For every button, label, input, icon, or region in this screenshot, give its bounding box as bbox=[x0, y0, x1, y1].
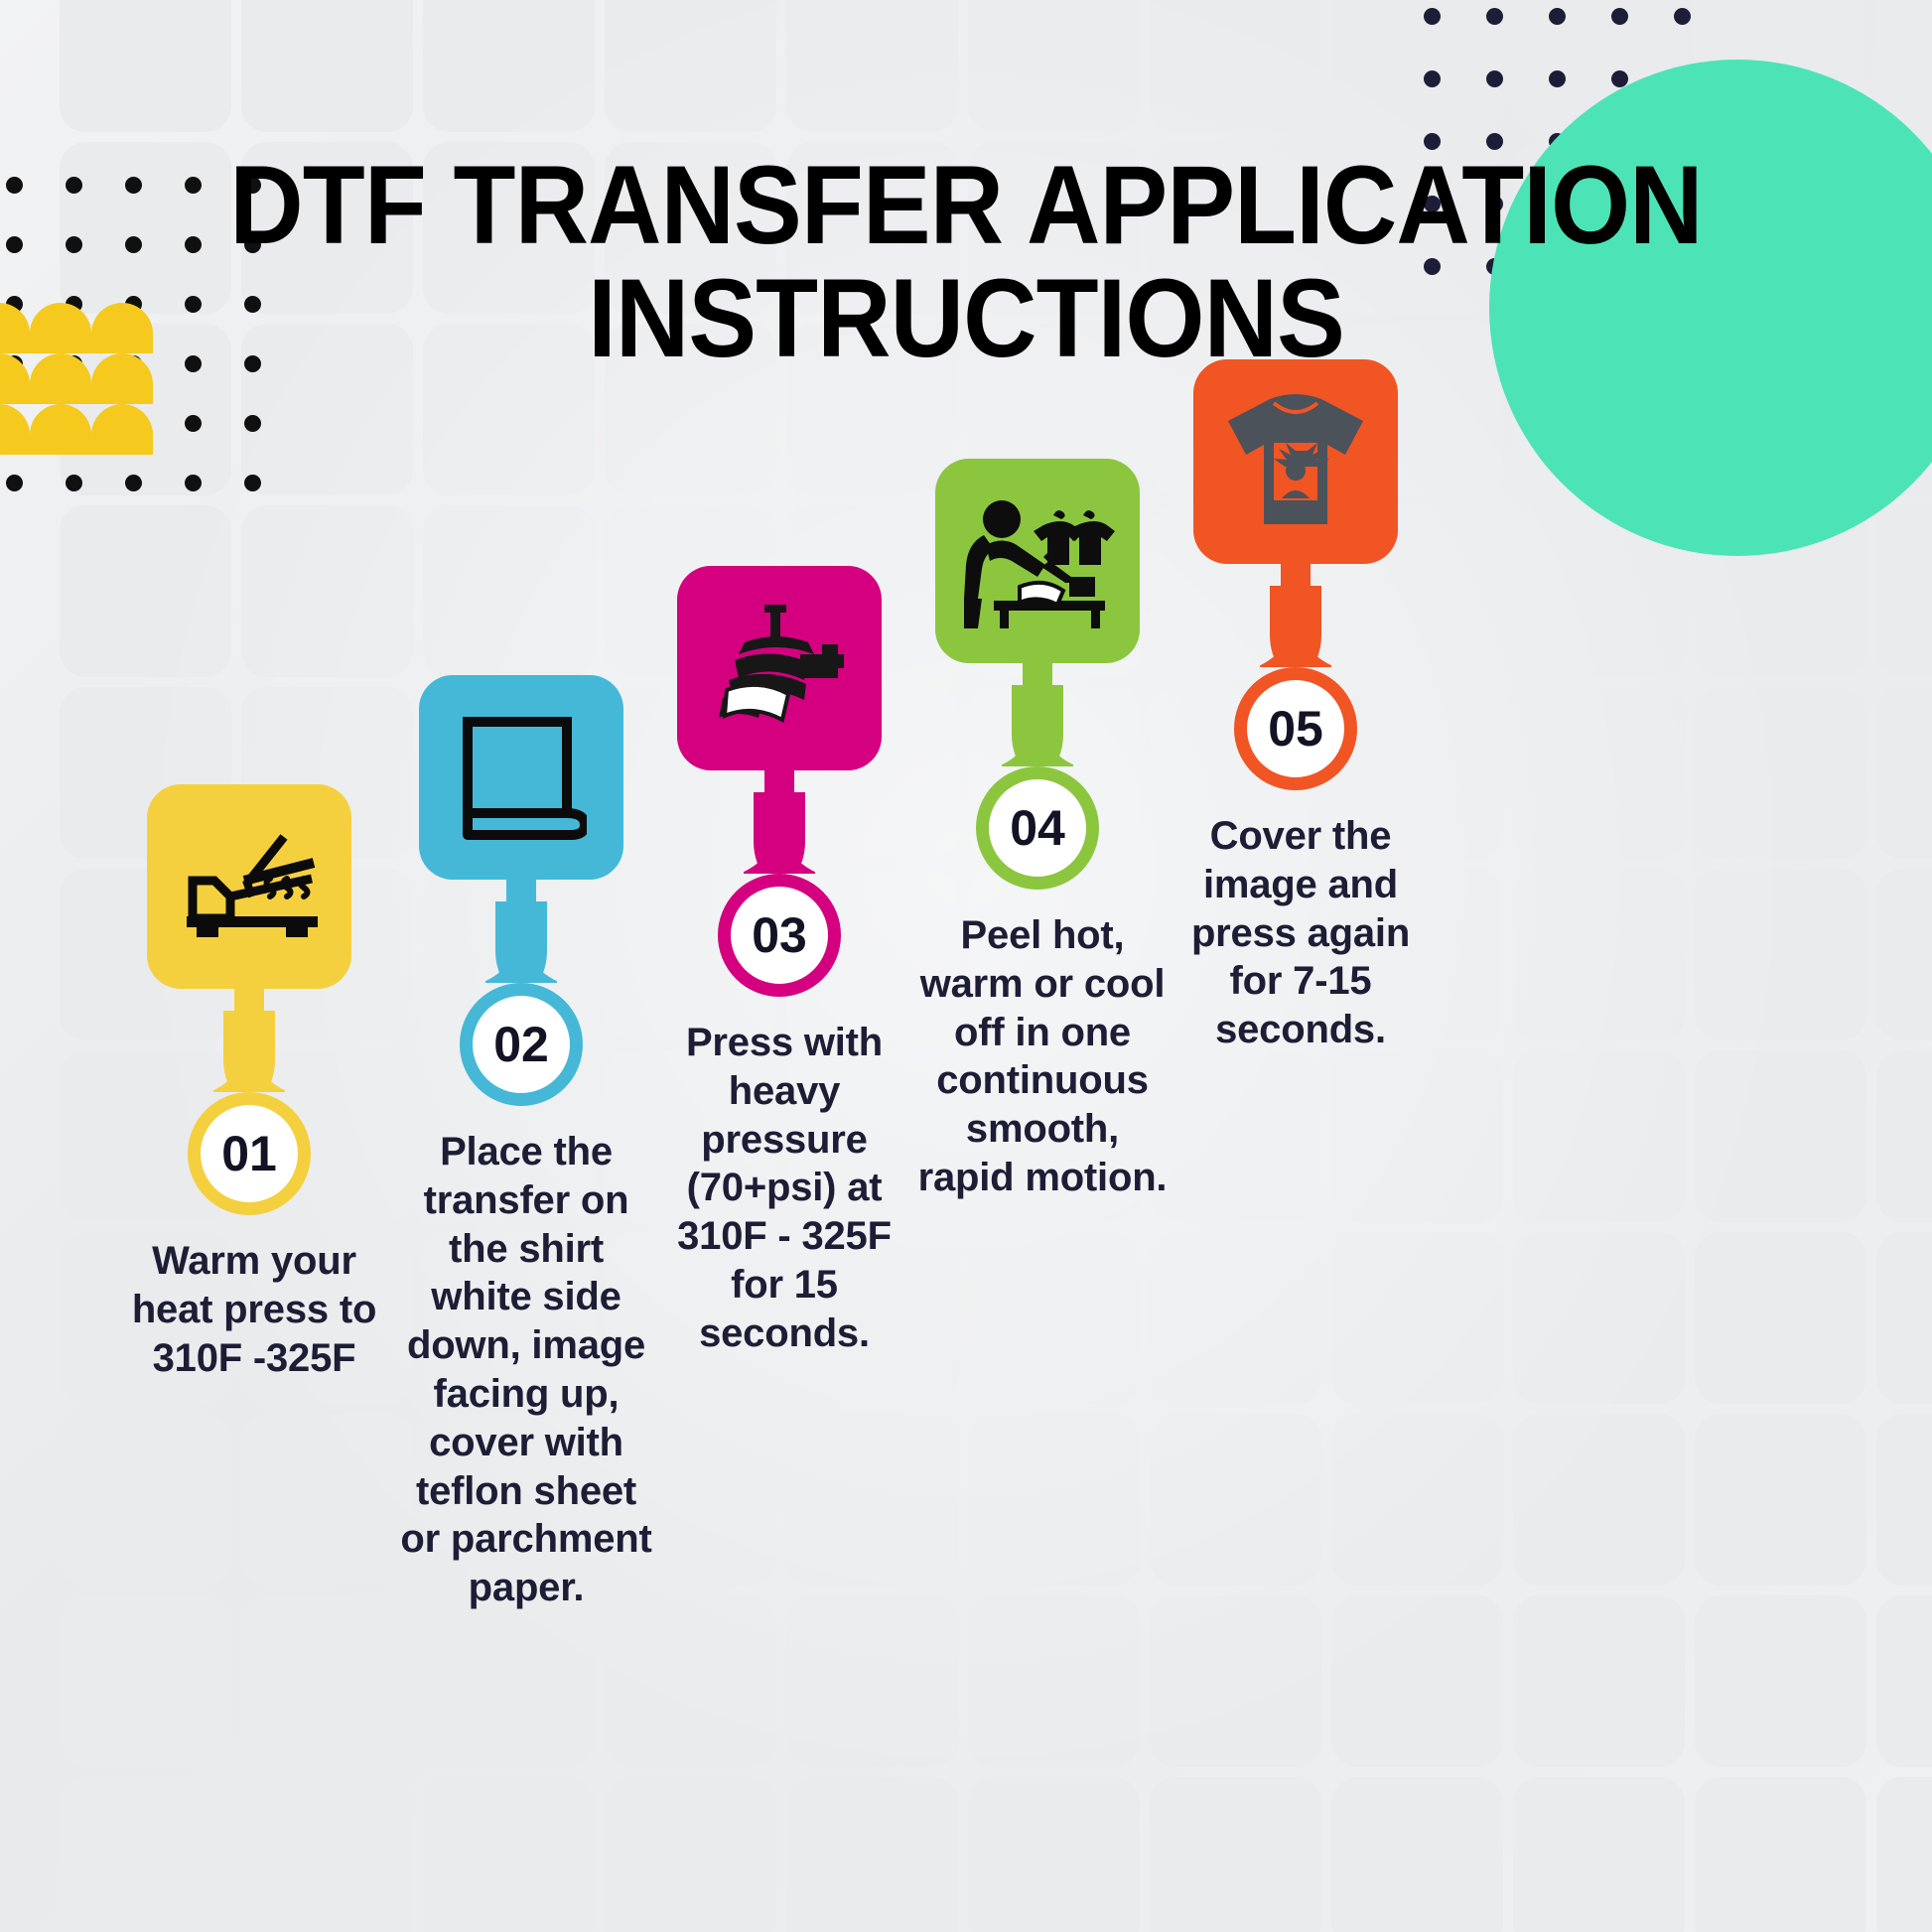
step-04-caption: Peel hot, warm or cool off in one contin… bbox=[913, 911, 1172, 1202]
step-04-number-badge: 04 bbox=[976, 766, 1099, 890]
step-02-caption: Place the transfer on the shirt white si… bbox=[397, 1128, 655, 1612]
step-05-connector bbox=[1172, 564, 1420, 667]
step-03-connector bbox=[655, 770, 903, 874]
press-machine-icon bbox=[705, 599, 854, 738]
step-01-connector bbox=[125, 989, 373, 1092]
step-03-number-badge: 03 bbox=[718, 874, 841, 997]
step-01-caption: Warm your heat press to 310F -325F bbox=[125, 1237, 383, 1382]
transfer-sheet-icon bbox=[456, 714, 587, 841]
step-02: 02 Place the transfer on the shirt white… bbox=[397, 675, 645, 1612]
step-02-connector bbox=[397, 880, 645, 983]
printed-tshirt-icon bbox=[1212, 387, 1379, 536]
step-05: 05 Cover the image and press again for 7… bbox=[1172, 359, 1420, 1054]
step-05-number: 05 bbox=[1268, 700, 1323, 758]
step-01-number-badge: 01 bbox=[188, 1092, 311, 1215]
heat-press-icon bbox=[175, 831, 324, 942]
step-05-caption: Cover the image and press again for 7-15… bbox=[1172, 812, 1430, 1054]
step-04-connector bbox=[913, 663, 1162, 766]
step-02-number: 02 bbox=[493, 1016, 549, 1073]
step-04: 04 Peel hot, warm or cool off in one con… bbox=[913, 459, 1162, 1202]
step-03-icon-card bbox=[677, 566, 882, 770]
step-01-number: 01 bbox=[221, 1125, 277, 1182]
step-04-icon-card bbox=[935, 459, 1140, 663]
step-02-icon-card bbox=[419, 675, 623, 880]
step-04-number: 04 bbox=[1010, 799, 1065, 857]
steps-container: 01 Warm your heat press to 310F -325F 02… bbox=[0, 0, 1932, 1932]
step-01: 01 Warm your heat press to 310F -325F bbox=[125, 784, 373, 1382]
step-05-icon-card bbox=[1193, 359, 1398, 564]
step-01-icon-card bbox=[147, 784, 351, 989]
step-03-caption: Press with heavy pressure (70+psi) at 31… bbox=[655, 1019, 913, 1358]
step-05-number-badge: 05 bbox=[1234, 667, 1357, 790]
step-03-number: 03 bbox=[752, 906, 807, 964]
person-peeling-icon bbox=[958, 491, 1117, 630]
step-02-number-badge: 02 bbox=[460, 983, 583, 1106]
step-03: 03 Press with heavy pressure (70+psi) at… bbox=[655, 566, 903, 1358]
